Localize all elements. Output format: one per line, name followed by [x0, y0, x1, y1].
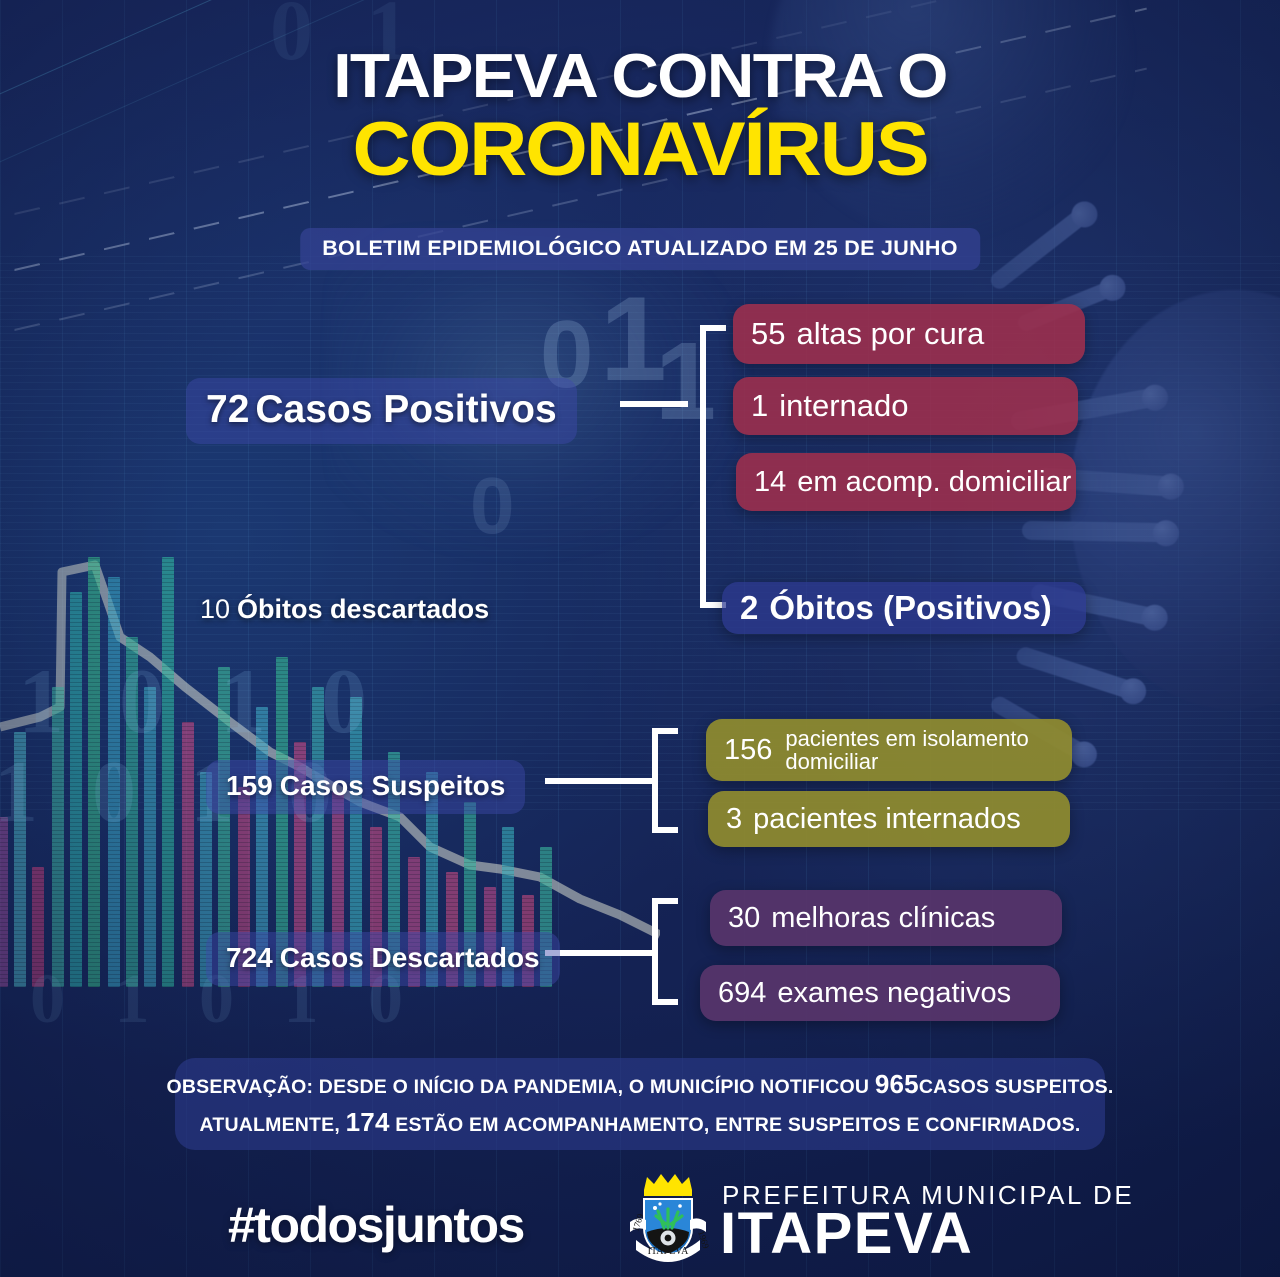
- stat-box-hospitalized: 1 internado: [733, 377, 1078, 435]
- home-isolation-number: 156: [724, 734, 772, 767]
- home-monitoring-label: em acomp. domiciliar: [797, 466, 1071, 499]
- observation-line1-pre: OBSERVAÇÃO: DESDE O INÍCIO DA PANDEMIA, …: [167, 1076, 870, 1098]
- observation-line1-post: CASOS SUSPEITOS.: [919, 1076, 1114, 1098]
- connector-suspeitos-spine: [652, 728, 658, 833]
- recovered-label: altas por cura: [796, 316, 984, 352]
- category-suspected-cases: 159Casos Suspeitos: [206, 760, 525, 814]
- suspected-cases-number: 159: [226, 770, 273, 801]
- page-title-line1: ITAPEVA CONTRA O: [0, 46, 1280, 108]
- suspected-cases-label: Casos Suspeitos: [280, 770, 506, 801]
- stat-box-suspected-hospitalized: 3 pacientes internados: [708, 791, 1070, 847]
- stat-box-home-isolation: 156 pacientes em isolamento domiciliar: [706, 719, 1072, 781]
- itapeva-coat-of-arms-icon: 1769 1969 ITAPEVA: [614, 1166, 722, 1274]
- crest-city-name: ITAPEVA: [648, 1246, 689, 1257]
- hospitalized-label: internado: [779, 388, 908, 424]
- positive-deaths-number: 2: [740, 589, 758, 627]
- connector-suspeitos-bottom: [652, 827, 678, 833]
- stat-box-negative-tests: 694 exames negativos: [700, 965, 1060, 1021]
- recovered-number: 55: [751, 316, 785, 352]
- connector-descartados-stem: [545, 950, 655, 956]
- discarded-deaths-number: 10: [200, 594, 230, 624]
- positive-deaths-label: Óbitos (Positivos): [769, 589, 1051, 627]
- negative-tests-number: 694: [718, 977, 766, 1010]
- stat-box-home-monitoring: 14 em acomp. domiciliar: [736, 453, 1076, 511]
- positive-cases-number: 72: [206, 388, 249, 431]
- category-positive-cases: 72Casos Positivos: [186, 378, 577, 444]
- connector-descartados-bottom: [652, 999, 678, 1005]
- clinical-improvement-label: melhoras clínicas: [771, 902, 995, 935]
- connector-positivos-top: [700, 325, 726, 331]
- positive-cases-label: Casos Positivos: [255, 388, 556, 431]
- observation-line-1: OBSERVAÇÃO: DESDE O INÍCIO DA PANDEMIA, …: [167, 1066, 1114, 1104]
- discarded-deaths-label: Óbitos descartados: [237, 594, 489, 624]
- home-monitoring-number: 14: [754, 466, 786, 499]
- hashtag-todosjuntos: #todosjuntos: [228, 1196, 524, 1254]
- stat-box-clinical-improvement: 30 melhoras clínicas: [710, 890, 1062, 946]
- observation-line-2: ATUALMENTE, 174 ESTÃO EM ACOMPANHAMENTO,…: [200, 1104, 1081, 1142]
- observation-notified-count: 965: [875, 1069, 919, 1099]
- category-discarded-cases: 724Casos Descartados: [206, 932, 560, 986]
- discarded-cases-label: Casos Descartados: [280, 942, 540, 973]
- connector-positivos-stem: [620, 401, 688, 407]
- stat-box-recovered: 55 altas por cura: [733, 304, 1085, 364]
- suspected-hospitalized-label: pacientes internados: [753, 803, 1021, 836]
- observation-line2-post: ESTÃO EM ACOMPANHAMENTO, ENTRE SUSPEITOS…: [395, 1114, 1080, 1136]
- clinical-improvement-number: 30: [728, 902, 760, 935]
- observation-monitoring-count: 174: [346, 1107, 390, 1137]
- suspected-hospitalized-number: 3: [726, 803, 742, 836]
- stat-box-positive-deaths: 2 Óbitos (Positivos): [722, 582, 1086, 634]
- hospitalized-number: 1: [751, 388, 768, 424]
- page-title-line2: CORONAVÍRUS: [0, 112, 1280, 188]
- home-isolation-label: pacientes em isolamento domiciliar: [785, 727, 1054, 774]
- prefecture-name: ITAPEVA: [720, 1205, 973, 1263]
- category-discarded-deaths: 10Óbitos descartados: [190, 588, 499, 631]
- negative-tests-label: exames negativos: [777, 977, 1011, 1010]
- connector-descartados-top: [652, 898, 678, 904]
- discarded-cases-number: 724: [226, 942, 273, 973]
- bulletin-date-banner: BOLETIM EPIDEMIOLÓGICO ATUALIZADO EM 25 …: [300, 228, 980, 270]
- observation-note: OBSERVAÇÃO: DESDE O INÍCIO DA PANDEMIA, …: [175, 1058, 1105, 1150]
- connector-suspeitos-top: [652, 728, 678, 734]
- observation-line2-pre: ATUALMENTE,: [200, 1114, 341, 1136]
- connector-positivos-spine: [700, 325, 706, 608]
- connector-suspeitos-stem: [545, 778, 655, 784]
- connector-descartados-spine: [652, 898, 658, 1005]
